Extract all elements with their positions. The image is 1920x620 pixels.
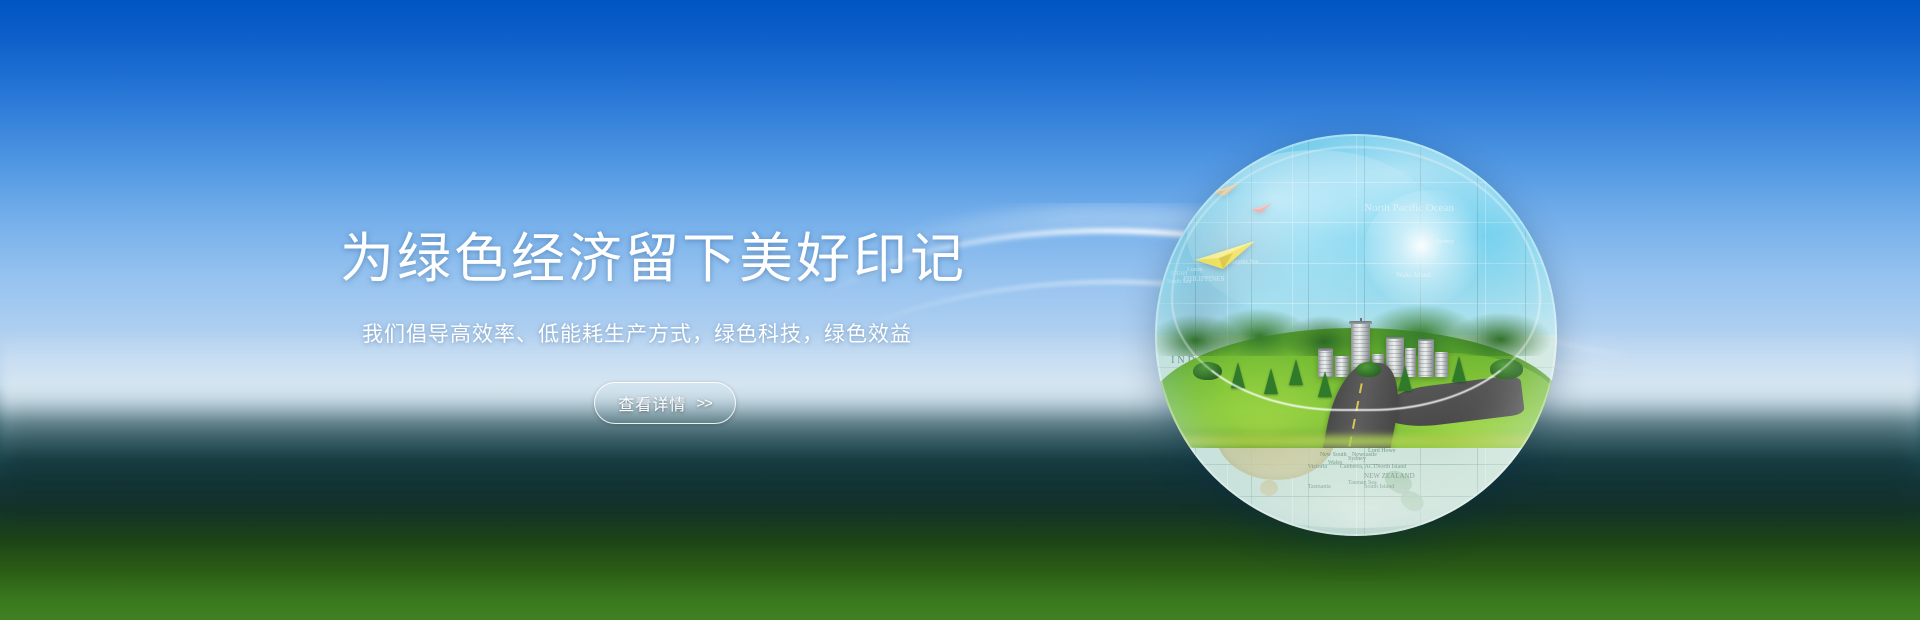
chevron-right-double-icon: >> [696, 395, 712, 412]
building-antenna [1360, 318, 1362, 321]
hero-banner: North Pacific OceanWake IslandSydneyPHIL… [0, 0, 1920, 620]
building [1435, 352, 1447, 378]
building-cap [1349, 321, 1372, 324]
tree-conifer [1452, 356, 1466, 382]
building-cap [1318, 348, 1334, 350]
paper-plane-red-icon [1251, 202, 1273, 214]
building-cap [1418, 339, 1434, 341]
tree-conifer [1318, 371, 1332, 397]
view-details-button[interactable]: 查看详情 >> [594, 382, 736, 424]
building [1335, 356, 1349, 377]
tree [1193, 362, 1222, 380]
paper-plane-orange-icon [1211, 182, 1241, 197]
tree-conifer [1289, 359, 1303, 385]
building [1418, 341, 1434, 377]
tree-conifer [1264, 368, 1278, 394]
globe-landmass-tasmania [1260, 480, 1278, 496]
cta-label: 查看详情 [618, 391, 686, 415]
banner-subtitle: 我们倡导高效率、低能耗生产方式，绿色科技，绿色效益 [362, 320, 1040, 350]
tree [1356, 362, 1381, 377]
hill-shadow [1155, 436, 1557, 448]
globe-island-scene [1155, 295, 1557, 448]
building-cap [1386, 337, 1404, 339]
paper-plane-yellow-icon [1195, 239, 1257, 271]
tree [1490, 359, 1523, 379]
banner-headline: 为绿色经济留下美好印记 [340, 228, 1040, 290]
banner-text-block: 为绿色经济留下美好印记 我们倡导高效率、低能耗生产方式，绿色科技，绿色效益 查看… [340, 228, 1040, 424]
tree-conifer [1398, 365, 1412, 391]
cta-wrapper: 查看详情 >> [594, 382, 1040, 424]
tree-conifer [1231, 362, 1245, 388]
eco-globe: North Pacific OceanWake IslandSydneyPHIL… [1155, 134, 1557, 536]
